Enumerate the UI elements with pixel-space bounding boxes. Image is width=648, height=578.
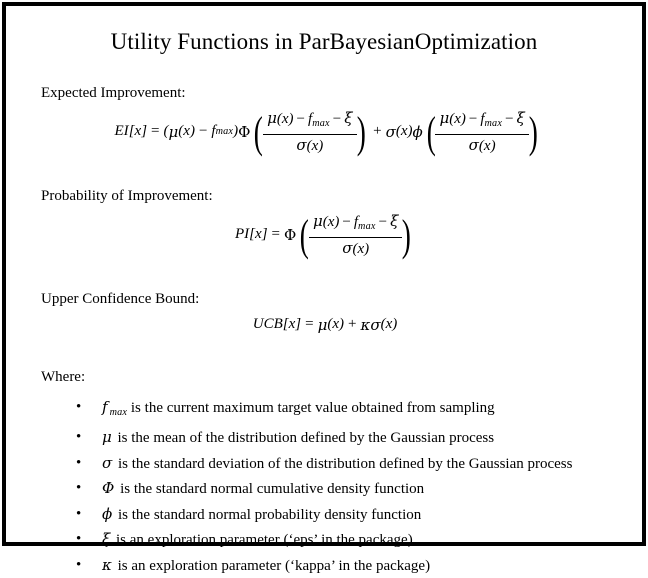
ei-num1-f-sub: max bbox=[312, 118, 330, 129]
ei-den2-sigma: σ bbox=[469, 136, 479, 154]
ei-mu-arg: x bbox=[183, 123, 190, 140]
ei-den1-close: ) bbox=[318, 138, 323, 154]
ei-num2-var: x bbox=[454, 111, 461, 127]
definition-symbol: ϕ bbox=[102, 502, 112, 527]
section-label-upper-confidence-bound: Upper Confidence Bound: bbox=[41, 290, 642, 309]
ei-den1-sigma: σ bbox=[296, 136, 306, 154]
ei-sigma-2: σ bbox=[386, 123, 396, 141]
ucb-mu-var: x bbox=[332, 316, 339, 333]
pi-var: x bbox=[255, 226, 262, 243]
ei-num2-xi: ξ bbox=[517, 109, 525, 127]
list-item: •ξ is an exploration parameter (‘eps’ in… bbox=[6, 527, 642, 553]
pi-den-sigma: σ bbox=[342, 239, 352, 257]
section-label-probability-of-improvement: Probability of Improvement: bbox=[41, 187, 642, 206]
equation-probability-of-improvement: PI[x] = Φ ( μ(x)−fmax−ξ σ(x) ) bbox=[8, 212, 642, 258]
ei-fraction-1: μ(x)−fmax−ξ σ(x) bbox=[263, 109, 356, 155]
definition-text: is an exploration parameter (‘kappa’ in … bbox=[118, 558, 431, 574]
definition-text: is the standard normal probability densi… bbox=[118, 507, 421, 523]
ei-num1-var: x bbox=[282, 111, 289, 127]
list-item: •ϕ is the standard normal probability de… bbox=[6, 502, 642, 528]
pi-num-mu: μ bbox=[313, 212, 323, 230]
ei-den2-var: x bbox=[484, 138, 491, 154]
ei-num1-xi: ξ bbox=[344, 109, 352, 127]
definition-text: is the current maximum target value obta… bbox=[131, 400, 495, 416]
pi-num-minus-2: − bbox=[376, 214, 390, 230]
definition-text: is the mean of the distribution defined … bbox=[118, 430, 495, 446]
ei-num1-minus-1: − bbox=[294, 111, 308, 127]
ei-Phi: Φ bbox=[238, 123, 250, 141]
definition-text: is the standard deviation of the distrib… bbox=[118, 456, 572, 472]
definition-symbol: f bbox=[102, 395, 108, 420]
list-item: •σ is the standard deviation of the dist… bbox=[6, 451, 642, 477]
bullet-icon: • bbox=[76, 451, 81, 476]
definition-symbol: μ bbox=[102, 425, 112, 450]
section-label-expected-improvement: Expected Improvement: bbox=[41, 84, 642, 103]
pi-num-minus-1: − bbox=[339, 214, 353, 230]
ucb-sigma-close: ) bbox=[392, 316, 397, 333]
definition-text: is the standard normal cumulative densit… bbox=[120, 481, 424, 497]
ucb-plus: + bbox=[344, 316, 360, 333]
ei-den2-close: ) bbox=[491, 138, 496, 154]
ei-sigma2-var: x bbox=[401, 123, 408, 140]
list-item: •μ is the mean of the distribution defin… bbox=[6, 425, 642, 451]
ei-num2-minus-1: − bbox=[466, 111, 480, 127]
equation-upper-confidence-bound: UCB[x] = μ(x) + κσ(x) bbox=[8, 316, 642, 334]
pi-fraction: μ(x)−fmax−ξ σ(x) bbox=[309, 212, 402, 258]
definition-text: is an exploration parameter (‘eps’ in th… bbox=[116, 532, 413, 548]
where-definitions-list: •fmax is the current maximum target valu… bbox=[6, 395, 642, 578]
pi-den-close: ) bbox=[364, 241, 369, 257]
ei-fraction-1-denominator: σ(x) bbox=[292, 135, 327, 155]
ei-num2-mu: μ bbox=[439, 109, 449, 127]
ei-num1-mu: μ bbox=[267, 109, 277, 127]
pi-equals: = bbox=[268, 226, 284, 243]
ucb-lhs: UCB bbox=[253, 316, 283, 333]
ucb-kappa: κ bbox=[360, 316, 370, 334]
ei-phi: ϕ bbox=[413, 123, 423, 141]
ucb-mu: μ bbox=[318, 316, 328, 334]
ucb-sigma: σ bbox=[370, 316, 380, 334]
page-title: Utility Functions in ParBayesianOptimiza… bbox=[6, 28, 642, 56]
ei-num1-close: ) bbox=[289, 111, 294, 127]
ei-fraction-2-denominator: σ(x) bbox=[465, 135, 500, 155]
pi-num-xi: ξ bbox=[390, 212, 398, 230]
bullet-icon: • bbox=[76, 553, 81, 578]
bullet-icon: • bbox=[76, 502, 81, 527]
ei-num1-minus-2: − bbox=[330, 111, 344, 127]
list-item: •κ is an exploration parameter (‘kappa’ … bbox=[6, 553, 642, 578]
section-label-where: Where: bbox=[41, 368, 642, 387]
bullet-icon: • bbox=[76, 425, 81, 450]
pi-num-f-sub: max bbox=[358, 221, 376, 232]
ei-lhs: EI bbox=[115, 123, 129, 140]
ei-minus-1: − bbox=[195, 123, 211, 140]
ei-num2-minus-2: − bbox=[502, 111, 516, 127]
pi-fraction-denominator: σ(x) bbox=[338, 238, 373, 258]
bullet-icon: • bbox=[76, 476, 81, 501]
definition-symbol-subscript: max bbox=[110, 407, 128, 418]
equation-expected-improvement: EI[x] = (μ(x)−fmax)Φ ( μ(x)−fmax−ξ σ(x) … bbox=[14, 109, 642, 155]
document-page: Utility Functions in ParBayesianOptimiza… bbox=[0, 0, 648, 548]
list-item: •Φ is the standard normal cumulative den… bbox=[6, 476, 642, 502]
definition-symbol: Φ bbox=[102, 476, 114, 501]
list-item: •fmax is the current maximum target valu… bbox=[6, 395, 642, 425]
ei-fraction-2-numerator: μ(x)−fmax−ξ bbox=[435, 109, 528, 135]
ucb-equals: = bbox=[301, 316, 317, 333]
definition-symbol: σ bbox=[102, 451, 112, 476]
pi-lhs: PI bbox=[235, 226, 249, 243]
bullet-icon: • bbox=[76, 395, 81, 420]
definition-symbol: κ bbox=[102, 553, 112, 578]
ei-plus: + bbox=[369, 123, 385, 140]
pi-fraction-numerator: μ(x)−fmax−ξ bbox=[309, 212, 402, 238]
ei-equals: = bbox=[147, 123, 163, 140]
ei-num2-f-sub: max bbox=[485, 118, 503, 129]
ei-f-sub: max bbox=[216, 126, 234, 137]
ei-fraction-2: μ(x)−fmax−ξ σ(x) bbox=[435, 109, 528, 155]
ei-fraction-1-numerator: μ(x)−fmax−ξ bbox=[263, 109, 356, 135]
document-content: Utility Functions in ParBayesianOptimiza… bbox=[6, 6, 642, 542]
pi-Phi: Φ bbox=[284, 226, 296, 244]
ei-mu: μ bbox=[169, 123, 179, 141]
